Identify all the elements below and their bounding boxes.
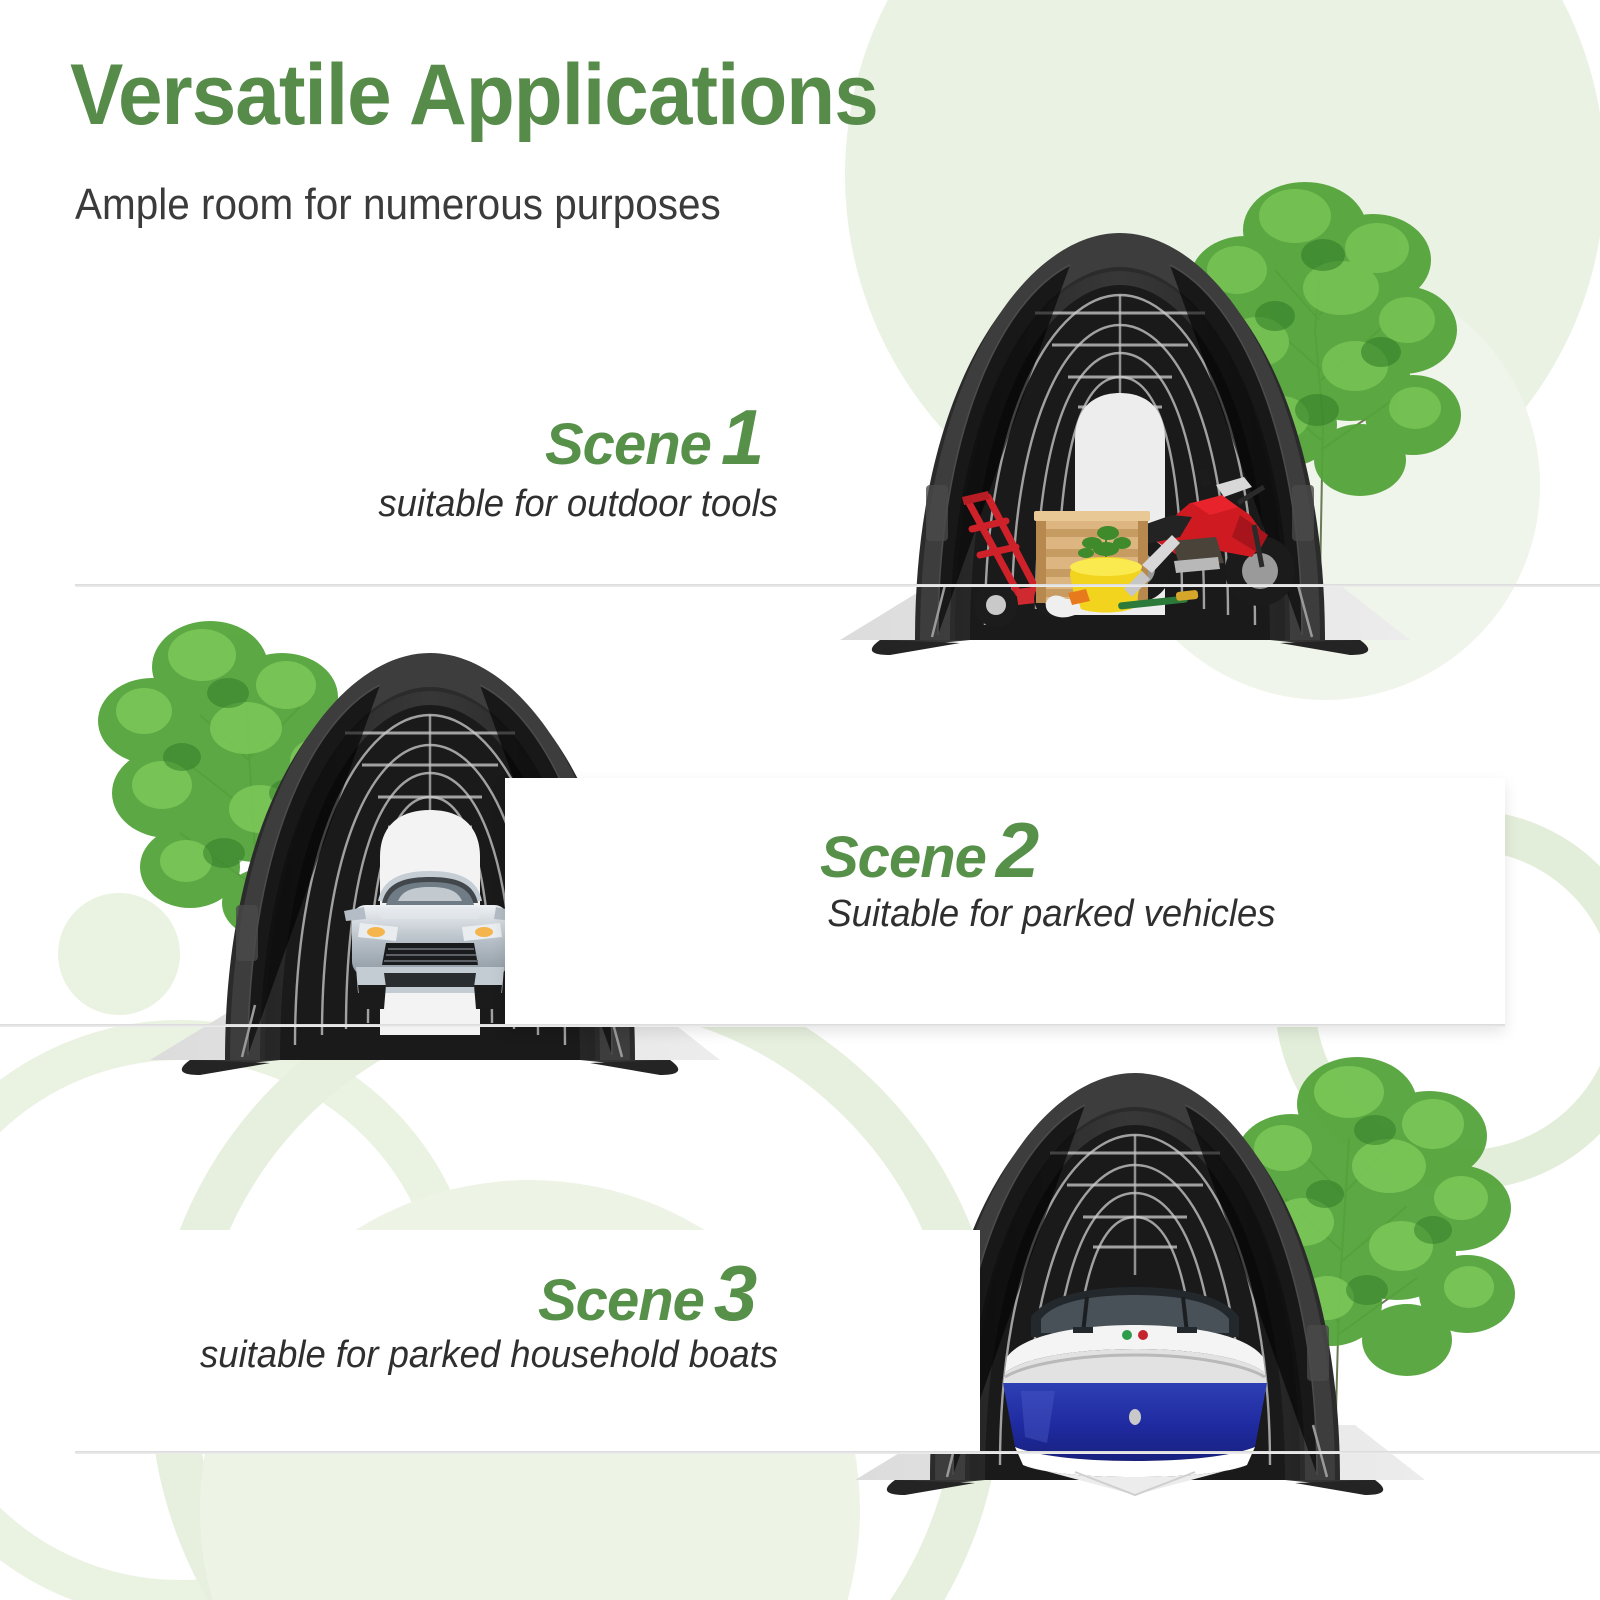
- divider-scene-3: [75, 1451, 1600, 1454]
- scene-2-number: 2: [996, 806, 1038, 894]
- scene-3-description: suitable for parked household boats: [200, 1334, 778, 1377]
- scene-1-description: suitable for outdoor tools: [378, 483, 778, 526]
- scene-3-number: 3: [714, 1249, 756, 1337]
- scene-2-label: Scene2: [820, 805, 1038, 896]
- scene-1-label-text: Scene: [545, 412, 711, 477]
- scene-3-label: Scene3: [538, 1248, 756, 1339]
- divider-scene-1: [75, 584, 1600, 587]
- scene-2-description: Suitable for parked vehicles: [827, 893, 1275, 936]
- scene-3-label-text: Scene: [538, 1268, 704, 1333]
- scene-1-number: 1: [721, 393, 763, 481]
- page-subtitle: Ample room for numerous purposes: [75, 180, 721, 230]
- scene-2-label-text: Scene: [820, 825, 986, 890]
- scene-1-label: Scene1: [545, 392, 763, 483]
- page-title: Versatile Applications: [70, 52, 878, 138]
- infographic-canvas: Versatile Applications Ample room for nu…: [0, 0, 1600, 1600]
